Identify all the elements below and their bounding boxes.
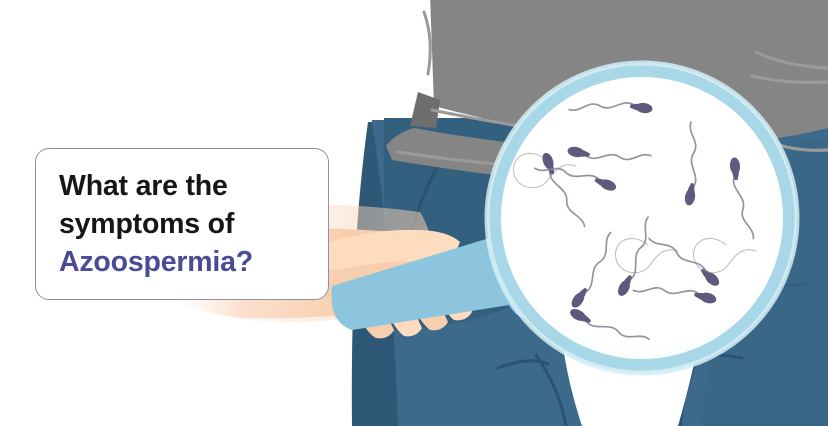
magnifier-lens: [501, 77, 783, 359]
question-callout: What are the symptoms of Azoospermia?: [35, 148, 329, 300]
magnifier-glass: [487, 63, 797, 373]
callout-line-2: symptoms of: [59, 205, 328, 243]
shirt-fold-6: [424, 12, 430, 74]
illustration-canvas: What are the symptoms of Azoospermia?: [0, 0, 828, 426]
callout-line-3: Azoospermia?: [59, 243, 328, 281]
callout-line-1: What are the: [59, 167, 328, 205]
